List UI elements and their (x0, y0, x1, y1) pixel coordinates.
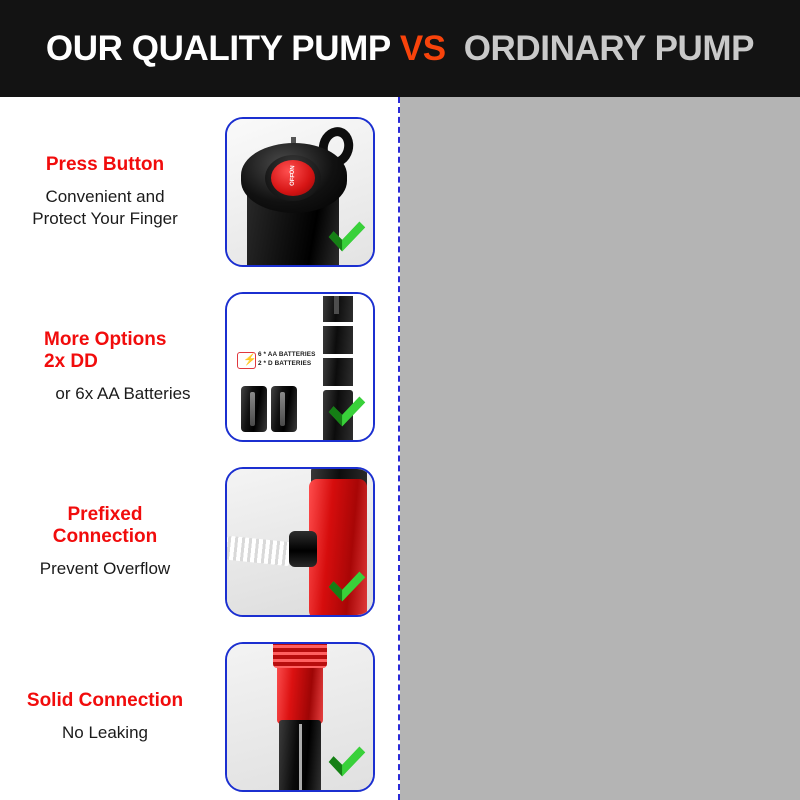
row-4-left-heading: Solid Connection (27, 690, 183, 712)
row-2-left-body: or 6x AA Batteries (44, 383, 202, 405)
row-2-left-text: More Options 2x DD or 6x AA Batteries (8, 282, 208, 452)
row-3-left-body-line1: Prevent Overflow (40, 558, 170, 580)
comparison-row-1: Press Button Convenient and Protect Your… (0, 107, 800, 277)
row-2-right: Operates with Two (2) D 1.5V AA Batterie… (400, 282, 800, 452)
infographic-page: OUR QUALITY PUMP VS ORDINARY PUMP Press … (0, 0, 800, 800)
green-check-icon (323, 563, 369, 609)
green-check-icon (323, 738, 369, 784)
row-1-left-photo-card: ONOFF (225, 117, 375, 267)
row-3-left-photo-card (225, 467, 375, 617)
row-4-right: will Leak if High Flow (400, 632, 800, 800)
row-1-left-body-line1: Convenient and (32, 186, 178, 208)
header-vs-label: VS (400, 31, 446, 66)
row-3-right: Rubber Securing Hard to Connect and Not … (400, 457, 800, 627)
row-1-left-body-line2: Protect Your Finger (32, 208, 178, 230)
row-1-left-body: Convenient and Protect Your Finger (32, 186, 178, 230)
green-check-icon (323, 213, 369, 259)
row-4-left-photo-card (225, 642, 375, 792)
row-3-left-heading-line1: Prefixed (53, 504, 158, 526)
battery-spec-label: ⚡ 6 * AA BATTERIES 2 * D BATTERIES (237, 350, 321, 369)
comparison-row-2: More Options 2x DD or 6x AA Batteries ⚡ (0, 282, 800, 452)
header-banner: OUR QUALITY PUMP VS ORDINARY PUMP (0, 0, 800, 97)
row-4-left-body-line1: No Leaking (62, 722, 148, 744)
row-2-left-body-line1: or 6x AA Batteries (44, 383, 202, 405)
header-left-title: OUR QUALITY PUMP (46, 31, 391, 66)
row-4-left-body: No Leaking (62, 722, 148, 744)
row-1-left-heading: Press Button (46, 154, 164, 176)
row-3-left-heading-line2: Connection (53, 526, 158, 548)
row-3-left-heading: Prefixed Connection (53, 504, 158, 549)
lightning-bolt-icon: ⚡ (237, 352, 256, 369)
row-3-left-body: Prevent Overflow (40, 558, 170, 580)
comparison-row-3: Prefixed Connection Prevent Overflow (0, 457, 800, 627)
row-4-left-text: Solid Connection No Leaking (8, 632, 208, 800)
row-1-right: Side On/Off Easy Broken (400, 107, 800, 277)
row-2-left-heading-line2: 2x DD (44, 351, 166, 373)
row-3-left: Prefixed Connection Prevent Overflow (0, 457, 400, 627)
row-1-left-text: Press Button Convenient and Protect Your… (8, 107, 208, 277)
row-4-left: Solid Connection No Leaking (0, 632, 400, 800)
header-right-title: ORDINARY PUMP (464, 31, 754, 66)
comparison-row-4: Solid Connection No Leaking (0, 632, 800, 800)
row-1-left: Press Button Convenient and Protect Your… (0, 107, 400, 277)
row-2-left-heading: More Options 2x DD (44, 329, 166, 374)
row-3-left-text: Prefixed Connection Prevent Overflow (8, 457, 208, 627)
green-check-icon (323, 388, 369, 434)
row-2-left-photo-card: ⚡ 6 * AA BATTERIES 2 * D BATTERIES (225, 292, 375, 442)
row-2-left-heading-line1: More Options (44, 329, 166, 351)
row-2-left: More Options 2x DD or 6x AA Batteries ⚡ (0, 282, 400, 452)
